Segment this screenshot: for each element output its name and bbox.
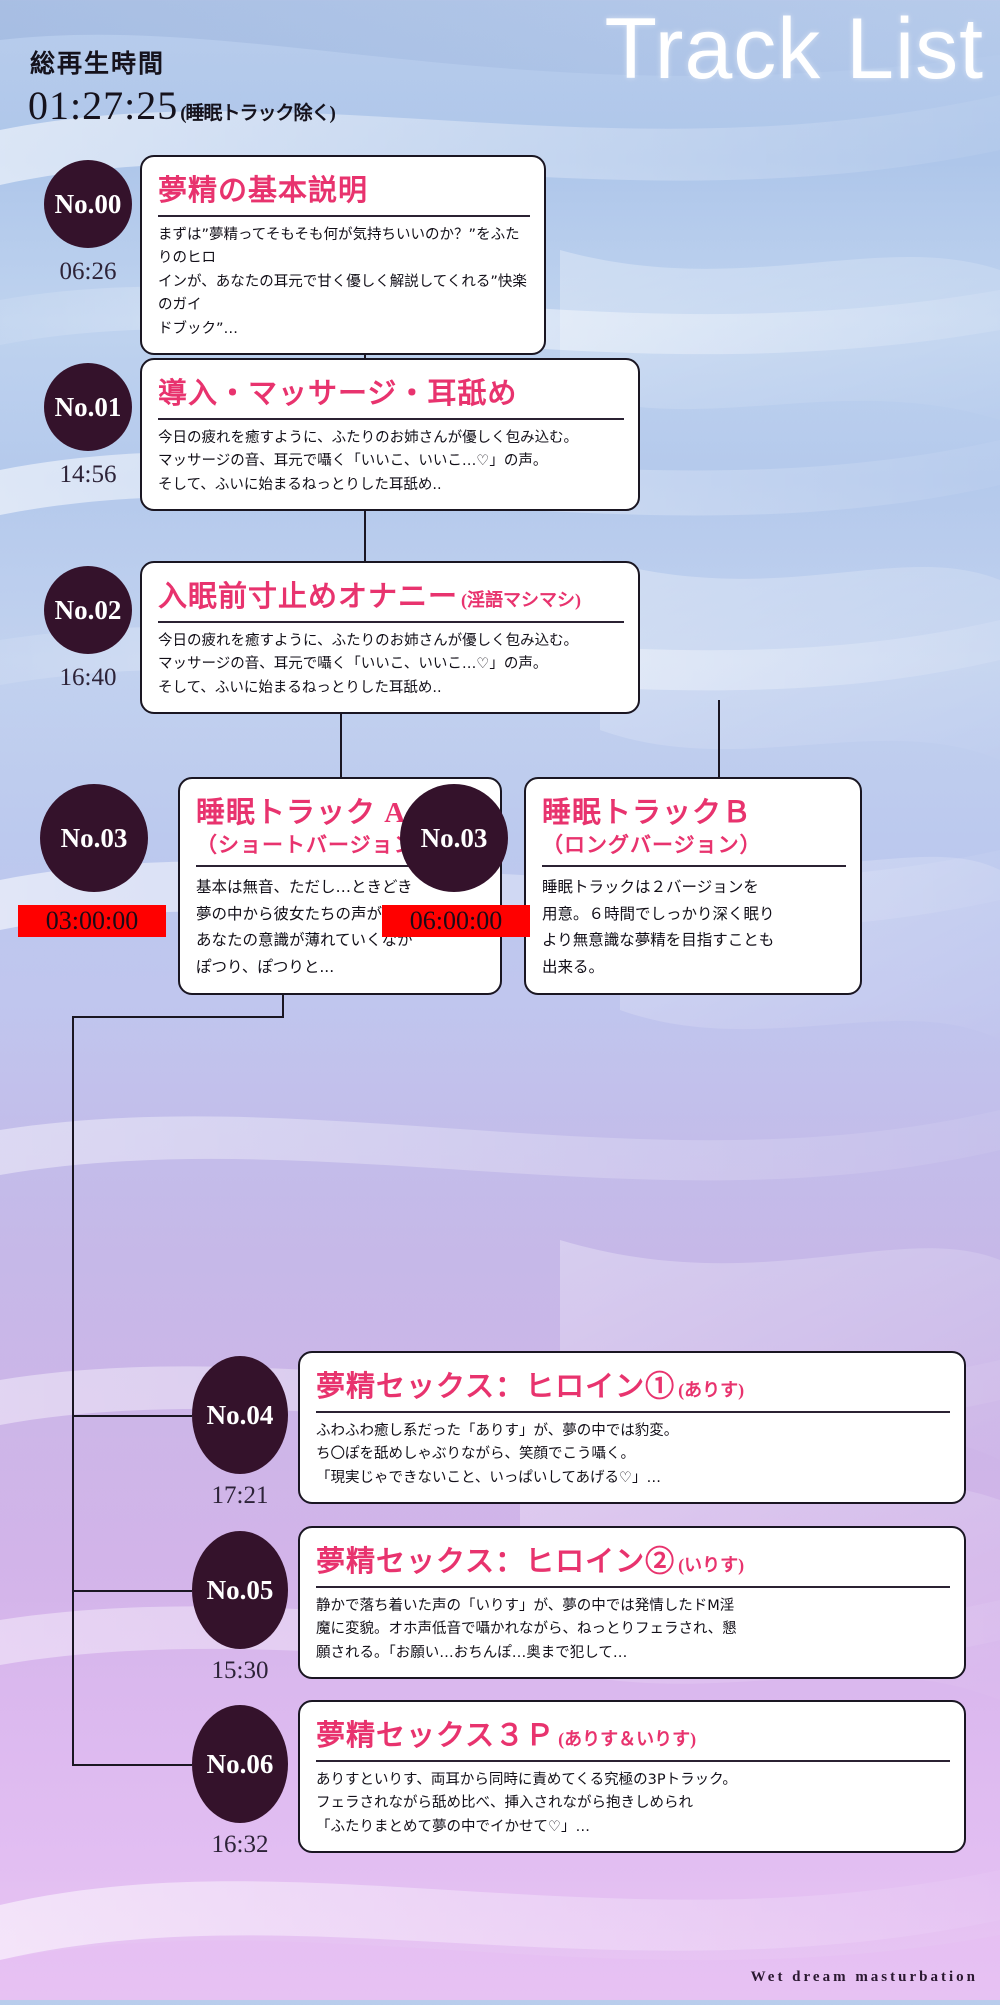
track-duration: 16:40 (44, 664, 132, 692)
track-title-row: 導入・マッサージ・耳舐め (158, 370, 624, 412)
track-title: 夢精セックス：ヒロイン② (316, 1538, 675, 1580)
title-divider (542, 865, 846, 867)
page-title: Track List (604, 6, 984, 92)
title-divider (158, 418, 624, 420)
title-divider (316, 1586, 950, 1588)
track-description: ありすといりす、両耳から同時に責めてくる究極の3Pトラック。 フェラされながら舐… (316, 1769, 950, 1839)
total-playtime-value: 01:27:25 (28, 82, 178, 129)
track-card[interactable]: 夢精セックス３Ｐ (ありす＆いりす) ありすといりす、両耳から同時に責めてくる究… (298, 1700, 966, 1853)
track-duration: 15:30 (188, 1657, 292, 1685)
track-number-badge: No.03 (400, 784, 508, 892)
track-description: 今日の疲れを癒すように、ふたりのお姉さんが優しく包み込む。 マッサージの音、耳元… (158, 427, 624, 497)
track-title-sub: (ありす＆いりす) (558, 1725, 696, 1751)
track-number-badge: No.04 (192, 1356, 288, 1474)
track-card[interactable]: 夢精セックス：ヒロイン② (いりす) 静かで落ち着いた声の「いりす」が、夢の中で… (298, 1526, 966, 1679)
connector-spur-06 (72, 1764, 192, 1766)
connector-spur-04 (72, 1415, 192, 1417)
total-playtime-row: 01:27:25 (睡眠トラック除く) (28, 82, 335, 129)
connector-02-03b (718, 700, 720, 782)
track-title-sub: (ありす) (678, 1376, 744, 1402)
track-title-row: 夢精の基本説明 (158, 167, 530, 209)
track-description: 静かで落ち着いた声の「いりす」が、夢の中では発情したドM淫 魔に変貌。オホ声低音… (316, 1595, 950, 1665)
track-title: 夢精セックス３Ｐ (316, 1712, 555, 1754)
track-description: 睡眠トラックは２バージョンを 用意。６時間でしっかり深く眠り より無意識な夢精を… (542, 874, 846, 981)
track-title-row: 夢精セックス３Ｐ (ありす＆いりす) (316, 1712, 950, 1754)
track-duration: 14:56 (44, 461, 132, 489)
track-number-badge: No.01 (44, 363, 132, 451)
track-title: 導入・マッサージ・耳舐め (158, 370, 517, 412)
branch-bar-horizontal (72, 1016, 284, 1018)
track-number-badge: No.03 (40, 784, 148, 892)
track-title: 睡眠トラックＢ (542, 789, 752, 831)
track-duration-highlight: 06:00:00 (382, 905, 530, 937)
track-card[interactable]: 入眠前寸止めオナニー (淫語マシマシ) 今日の疲れを癒すように、ふたりのお姉さん… (140, 561, 640, 714)
title-divider (316, 1411, 950, 1413)
page-header: Track List 総再生時間 01:27:25 (睡眠トラック除く) (0, 0, 1000, 150)
track-duration: 06:26 (44, 258, 132, 286)
track-number-badge: No.05 (192, 1531, 288, 1649)
branch-spine (72, 1016, 74, 1456)
track-title-row: 睡眠トラックＢ (542, 789, 846, 831)
track-duration: 16:32 (188, 1831, 292, 1859)
track-card[interactable]: 導入・マッサージ・耳舐め 今日の疲れを癒すように、ふたりのお姉さんが優しく包み込… (140, 358, 640, 511)
branch-spine-lower (72, 1415, 74, 1765)
track-duration-highlight: 03:00:00 (18, 905, 166, 937)
track-card[interactable]: 夢精の基本説明 まずは”夢精ってそもそも何が気持ちいいのか？”をふたりのヒロ イ… (140, 155, 546, 355)
track-title-sub: (淫語マシマシ) (461, 586, 581, 612)
title-divider (316, 1760, 950, 1762)
total-playtime-note: (睡眠トラック除く) (180, 98, 335, 125)
track-title-line2: （ロングバージョン） (542, 829, 846, 859)
track-description: 今日の疲れを癒すように、ふたりのお姉さんが優しく包み込む。 マッサージの音、耳元… (158, 630, 624, 700)
track-title-row: 夢精セックス：ヒロイン② (いりす) (316, 1538, 950, 1580)
track-number-badge: No.00 (44, 160, 132, 248)
track-title: 夢精セックス：ヒロイン① (316, 1363, 675, 1405)
title-divider (158, 215, 530, 217)
track-title-sub: (いりす) (678, 1551, 744, 1577)
track-card[interactable]: 夢精セックス：ヒロイン① (ありす) ふわふわ癒し系だった「ありす」が、夢の中で… (298, 1351, 966, 1504)
title-divider (158, 621, 624, 623)
track-title: 睡眠トラック A (196, 789, 406, 831)
track-description: ふわふわ癒し系だった「ありす」が、夢の中では豹変。 ち〇ぽを舐めしゃぶりながら、… (316, 1420, 950, 1490)
connector-spur-05 (72, 1590, 192, 1592)
track-duration: 17:21 (188, 1482, 292, 1510)
track-description: まずは”夢精ってそもそも何が気持ちいいのか？”をふたりのヒロ インが、あなたの耳… (158, 224, 530, 341)
track-title: 入眠前寸止めオナニー (158, 573, 458, 615)
track-card[interactable]: 睡眠トラックＢ （ロングバージョン） 睡眠トラックは２バージョンを 用意。６時間… (524, 777, 862, 995)
track-title: 夢精の基本説明 (158, 167, 368, 209)
track-number-badge: No.02 (44, 566, 132, 654)
track-title-row: 入眠前寸止めオナニー (淫語マシマシ) (158, 573, 624, 615)
track-number-badge: No.06 (192, 1705, 288, 1823)
track-title-row: 夢精セックス：ヒロイン① (ありす) (316, 1363, 950, 1405)
total-playtime-label: 総再生時間 (30, 44, 165, 80)
footer-tagline: Wet dream masturbation (751, 1969, 978, 1986)
